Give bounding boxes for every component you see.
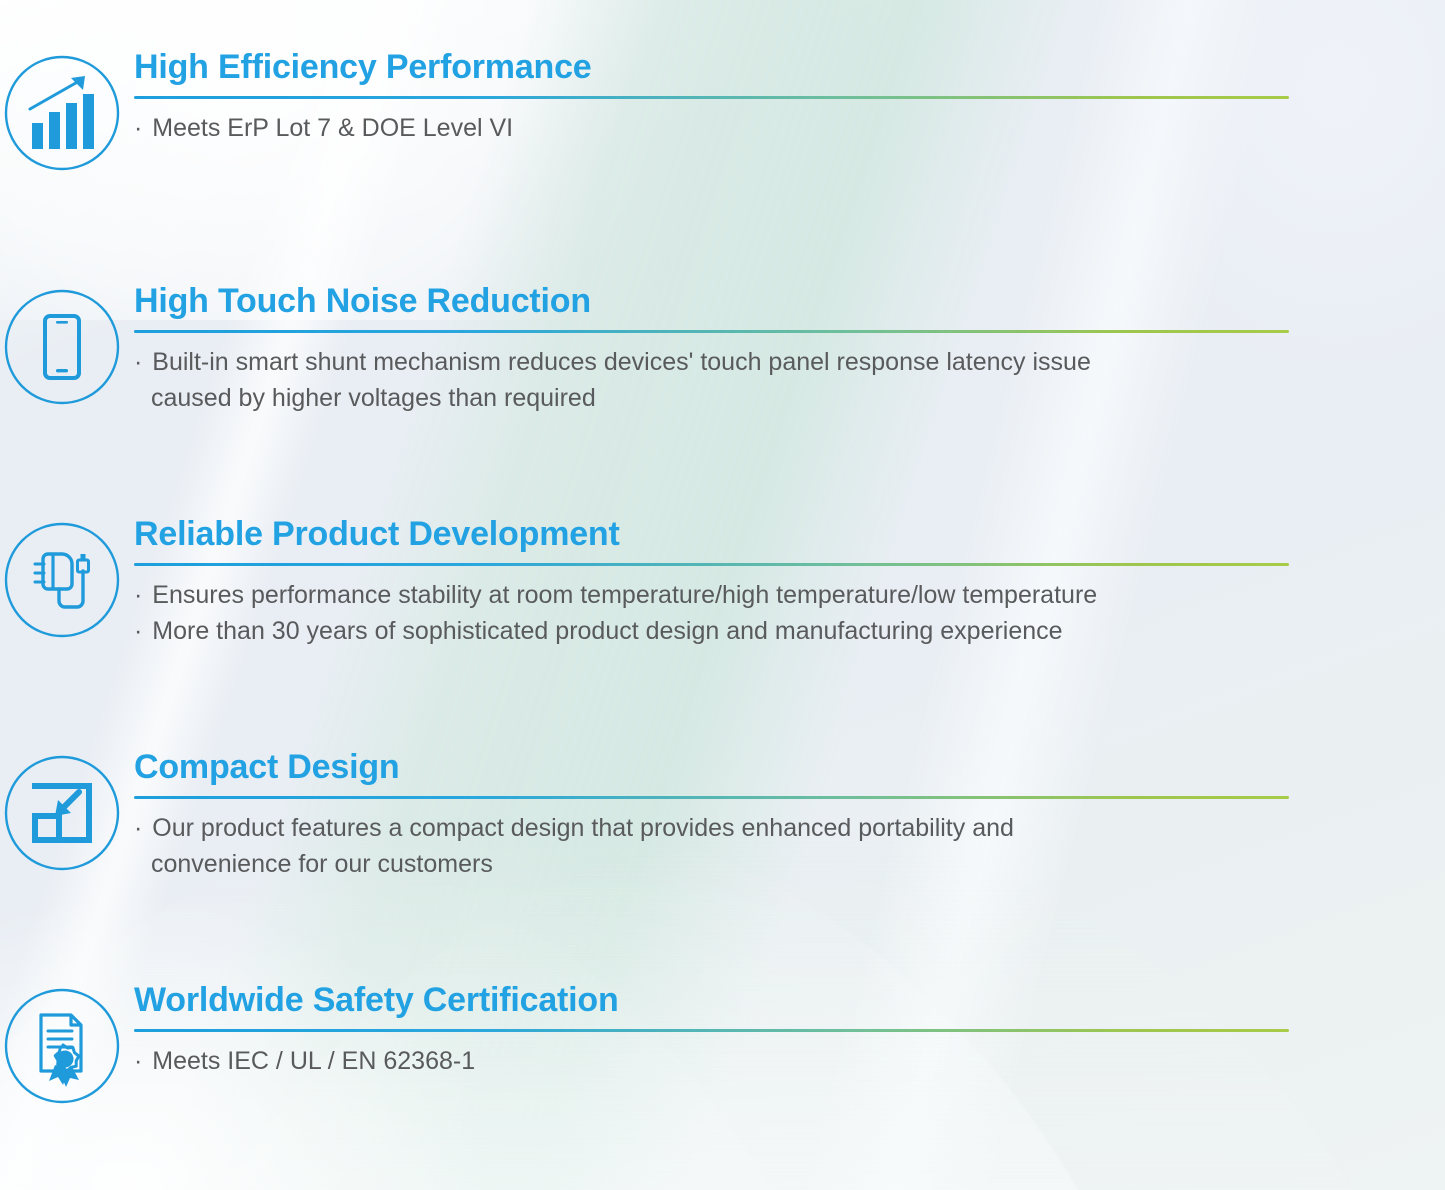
smartphone-icon: [3, 288, 121, 406]
feature-divider: [134, 796, 1289, 799]
bullet-text-continuation: convenience for our customers: [134, 846, 1289, 883]
feature-title: High Touch Noise Reduction: [134, 284, 1289, 320]
feature-item-high-efficiency-performance: High Efficiency Performance · Meets ErP …: [0, 50, 1289, 172]
bullet-marker: ·: [134, 1047, 145, 1075]
feature-title: High Efficiency Performance: [134, 50, 1289, 86]
feature-bullet: · Built-in smart shunt mechanism reduces…: [134, 344, 1289, 381]
feature-item-high-touch-noise-reduction: High Touch Noise Reduction · Built-in sm…: [0, 284, 1289, 417]
bar-chart-growth-icon: [3, 54, 121, 172]
feature-body: High Touch Noise Reduction · Built-in sm…: [124, 284, 1289, 417]
feature-divider: [134, 96, 1289, 99]
bullet-text: Our product features a compact design th…: [152, 814, 1014, 842]
bullet-text: Ensures performance stability at room te…: [152, 581, 1097, 609]
bullet-text: Meets ErP Lot 7 & DOE Level VI: [152, 114, 513, 142]
bullet-text: Meets IEC / UL / EN 62368-1: [152, 1047, 475, 1075]
feature-icon-wrap: [0, 284, 124, 406]
feature-bullet: · Meets ErP Lot 7 & DOE Level VI: [134, 110, 1289, 147]
feature-divider: [134, 330, 1289, 333]
feature-item-compact-design: Compact Design · Our product features a …: [0, 750, 1289, 883]
bullet-marker: ·: [134, 581, 145, 609]
background-green-diagonal-bottom-right: [1441, 736, 1445, 1190]
bullet-text: More than 30 years of sophisticated prod…: [152, 617, 1062, 645]
bullet-marker: ·: [134, 114, 145, 142]
feature-icon-wrap: [0, 517, 124, 639]
feature-bullet: · More than 30 years of sophisticated pr…: [134, 613, 1289, 650]
feature-title: Reliable Product Development: [134, 517, 1289, 553]
feature-body: Worldwide Safety Certification · Meets I…: [124, 983, 1289, 1079]
bullet-text-continuation: caused by higher voltages than required: [134, 380, 1289, 417]
feature-divider: [134, 563, 1289, 566]
background-green-diagonal-secondary: [1340, 760, 1445, 1190]
feature-body: High Efficiency Performance · Meets ErP …: [124, 50, 1289, 146]
bullet-marker: ·: [134, 617, 145, 645]
bullet-marker: ·: [134, 814, 145, 842]
compact-resize-icon: [3, 754, 121, 872]
feature-bullet: · Our product features a compact design …: [134, 810, 1289, 847]
certificate-seal-icon: [3, 987, 121, 1105]
feature-divider: [134, 1029, 1289, 1032]
feature-icon-wrap: [0, 983, 124, 1105]
feature-icon-wrap: [0, 750, 124, 872]
feature-bullet: · Meets IEC / UL / EN 62368-1: [134, 1043, 1289, 1080]
bullet-text: Built-in smart shunt mechanism reduces d…: [152, 348, 1091, 376]
feature-highlights-page: High Efficiency Performance · Meets ErP …: [0, 0, 1445, 1190]
feature-item-reliable-product-development: Reliable Product Development · Ensures p…: [0, 517, 1289, 650]
feature-body: Reliable Product Development · Ensures p…: [124, 517, 1289, 650]
bullet-marker: ·: [134, 348, 145, 376]
feature-bullet: · Ensures performance stability at room …: [134, 577, 1289, 614]
power-adapter-icon: [3, 521, 121, 639]
feature-icon-wrap: [0, 50, 124, 172]
feature-title: Worldwide Safety Certification: [134, 983, 1289, 1019]
feature-body: Compact Design · Our product features a …: [124, 750, 1289, 883]
feature-item-worldwide-safety-certification: Worldwide Safety Certification · Meets I…: [0, 983, 1289, 1105]
feature-title: Compact Design: [134, 750, 1289, 786]
